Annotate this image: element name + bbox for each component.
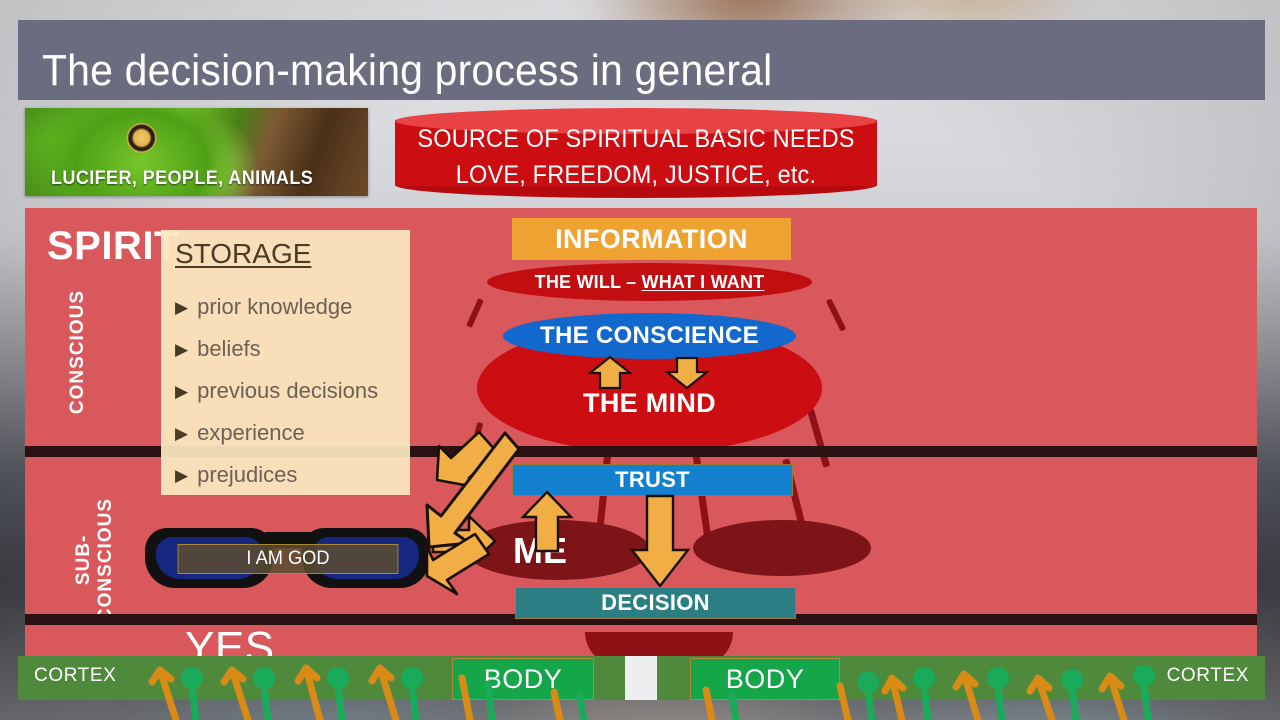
trust-to-decision-arrow-icon bbox=[629, 494, 691, 588]
arrow-up-right-icon bbox=[423, 532, 499, 600]
slide-canvas: The decision-making process in general L… bbox=[0, 0, 1280, 720]
will-prefix: THE WILL – bbox=[535, 272, 642, 292]
triangle-bullet-icon: ▶ bbox=[175, 299, 188, 316]
snake-caption: LUCIFER, PEOPLE, ANIMALS bbox=[51, 168, 313, 190]
spirit-label: SPIRIT bbox=[47, 224, 179, 269]
mind-up-arrow-icon bbox=[582, 356, 638, 390]
triangle-bullet-icon: ▶ bbox=[175, 467, 188, 484]
signal-pair bbox=[885, 667, 935, 720]
triangle-bullet-icon: ▶ bbox=[175, 341, 188, 358]
right-ellipse bbox=[693, 520, 871, 576]
sunglasses: I AM GOD bbox=[145, 526, 430, 591]
conscience-ellipse: THE CONSCIENCE bbox=[503, 313, 796, 359]
page-title: The decision-making process in general bbox=[42, 46, 772, 96]
signal-pair bbox=[1030, 669, 1083, 720]
signal-pair bbox=[152, 667, 203, 720]
signal-pair bbox=[298, 667, 349, 720]
me-to-trust-arrow-icon bbox=[519, 491, 575, 553]
signal-pair bbox=[706, 690, 736, 720]
storage-item-label: prejudices bbox=[197, 462, 297, 488]
signal-pair bbox=[554, 692, 584, 720]
subconscious-label: SUB- CONSCIOUS bbox=[73, 498, 117, 622]
information-bar: INFORMATION bbox=[512, 218, 791, 260]
presentation-slide: The decision-making process in general L… bbox=[18, 20, 1265, 700]
cylinder-text: SOURCE OF SPIRITUAL BASIC NEEDS LOVE, FR… bbox=[409, 121, 862, 193]
yes-label: YES bbox=[185, 623, 275, 656]
signal-pair bbox=[840, 671, 879, 720]
list-item: ▶ prior knowledge bbox=[175, 286, 403, 328]
storage-item-label: beliefs bbox=[197, 336, 261, 362]
will-emphasis: WHAT I WANT bbox=[642, 272, 765, 292]
list-item: ▶ previous decisions bbox=[175, 370, 403, 412]
storage-item-label: experience bbox=[197, 420, 305, 446]
decision-bar: DECISION bbox=[515, 587, 796, 619]
list-item: ▶ experience bbox=[175, 412, 403, 454]
mouth-shape bbox=[585, 632, 733, 656]
signal-arrows-layer bbox=[0, 656, 1280, 720]
triangle-bullet-icon: ▶ bbox=[175, 383, 188, 400]
strand-far-left bbox=[466, 298, 484, 328]
signal-pair bbox=[224, 667, 275, 720]
signal-pair bbox=[956, 667, 1009, 720]
storage-item-label: previous decisions bbox=[197, 378, 378, 404]
storage-card: STORAGE ▶ prior knowledge ▶ beliefs ▶ pr… bbox=[161, 230, 410, 495]
subconscious-line-2: CONSCIOUS bbox=[95, 498, 116, 622]
i-am-god-banner: I AM GOD bbox=[178, 544, 399, 574]
cylinder-line-2: LOVE, FREEDOM, JUSTICE, etc. bbox=[409, 157, 862, 193]
subconscious-line-1: SUB- bbox=[73, 535, 94, 585]
list-item: ▶ beliefs bbox=[175, 328, 403, 370]
mind-label: THE MIND bbox=[477, 388, 822, 419]
list-item: ▶ prejudices bbox=[175, 454, 403, 496]
signal-pair bbox=[1102, 665, 1155, 720]
will-ellipse: THE WILL – WHAT I WANT bbox=[487, 263, 812, 301]
mind-down-arrow-icon bbox=[659, 356, 715, 390]
signal-pair bbox=[462, 678, 492, 720]
storage-item-label: prior knowledge bbox=[197, 294, 352, 320]
signal-pair bbox=[372, 667, 423, 720]
conscious-label: CONSCIOUS bbox=[67, 290, 89, 414]
triangle-bullet-icon: ▶ bbox=[175, 425, 188, 442]
storage-title: STORAGE bbox=[175, 238, 311, 270]
source-cylinder: SOURCE OF SPIRITUAL BASIC NEEDS LOVE, FR… bbox=[395, 108, 877, 198]
spirit-field: SPIRIT CONSCIOUS SUB- CONSCIOUS THE MIND… bbox=[25, 208, 1257, 656]
storage-list: ▶ prior knowledge ▶ beliefs ▶ previous d… bbox=[175, 286, 403, 496]
snake-photo: LUCIFER, PEOPLE, ANIMALS bbox=[25, 108, 368, 196]
cylinder-line-1: SOURCE OF SPIRITUAL BASIC NEEDS bbox=[409, 121, 862, 157]
strand-far-right bbox=[826, 298, 846, 331]
title-bar: The decision-making process in general bbox=[18, 20, 1265, 100]
